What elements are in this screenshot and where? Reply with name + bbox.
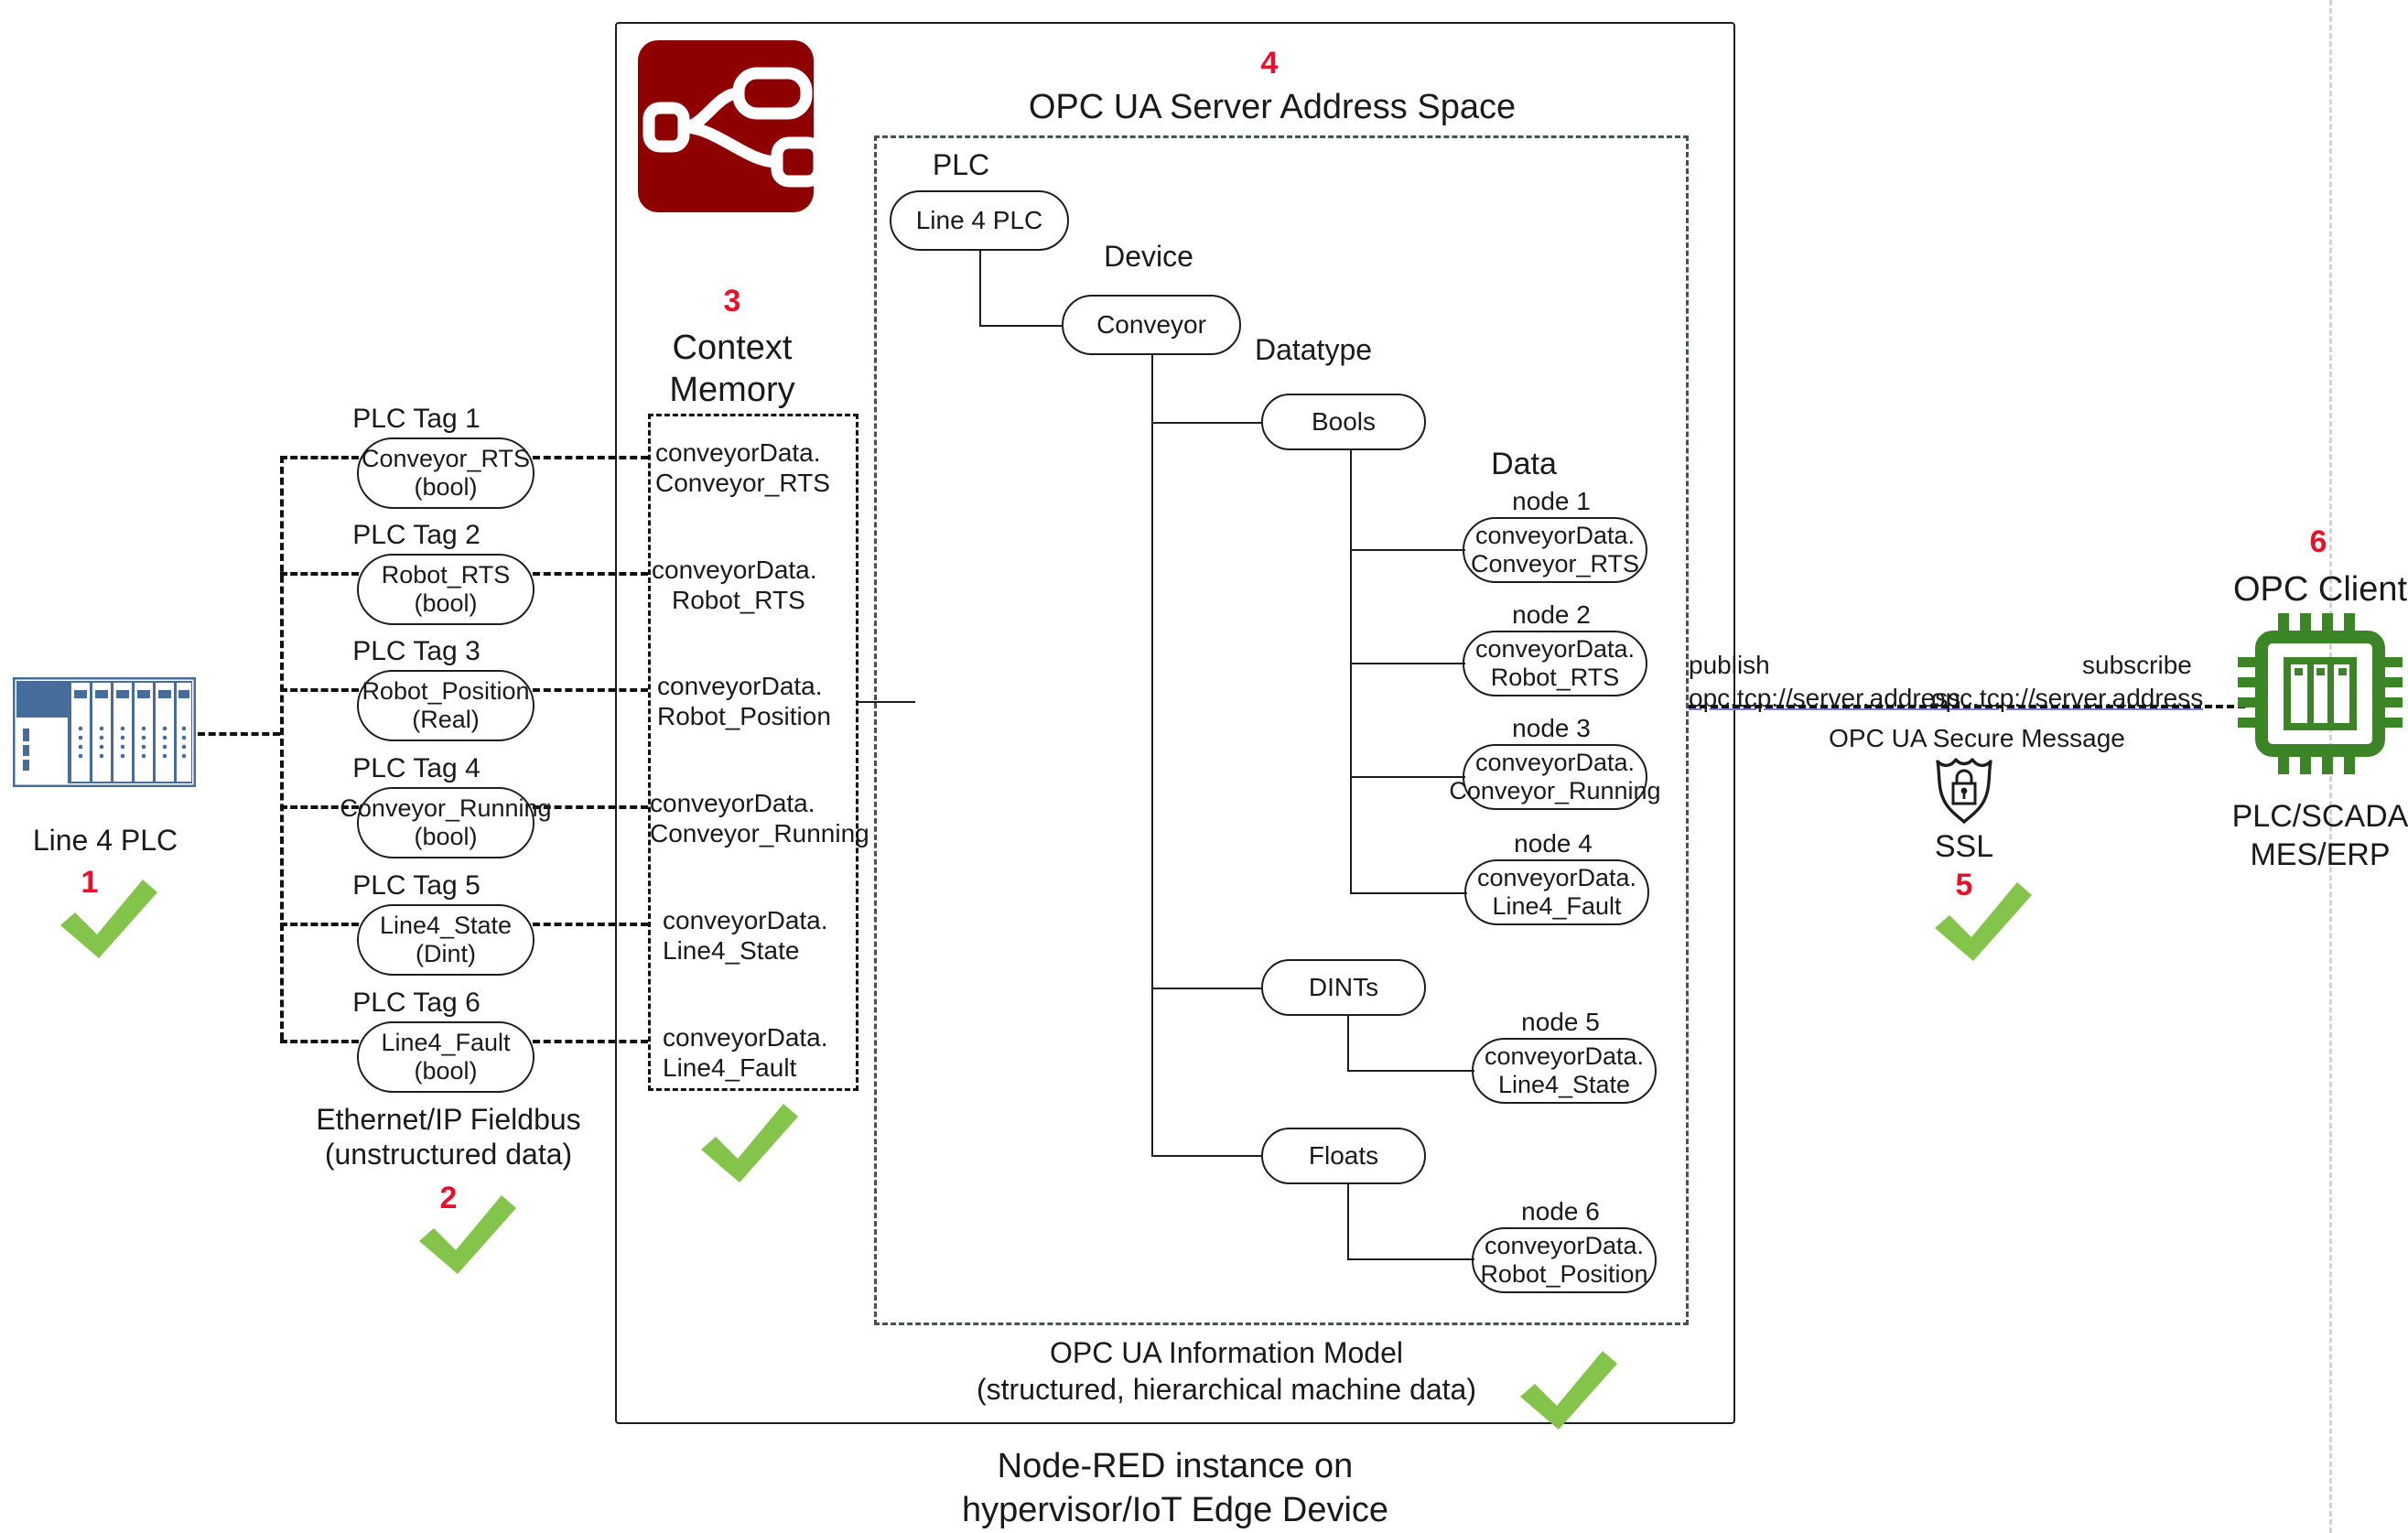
plc-tag-node-2-text: Robot_RTS (bool)	[382, 561, 511, 619]
node-red-footer-line2: hypervisor/IoT Edge Device	[901, 1490, 1450, 1531]
plc-device-label: Line 4 PLC	[0, 824, 211, 858]
fieldbus-label-line2: (unstructured data)	[275, 1138, 622, 1172]
information-model-line1: OPC UA Information Model	[924, 1336, 1528, 1371]
data-node-caption-3: node 3	[1474, 713, 1629, 743]
plc-tag-node-5-text: Line4_State (Dint)	[380, 912, 512, 969]
tree-wire-floats-d6	[1347, 1258, 1474, 1260]
context-entry-1: conveyorData.Conveyor_RTS	[646, 437, 862, 498]
plc-tag-node-3: Robot_Position (Real)	[357, 670, 535, 741]
diagram-canvas: Line 4 PLC 1 PLC Tag 1 Conveyor_RTS (boo…	[0, 0, 2408, 1533]
addr-data-node-3-text: conveyorData. Conveyor_Running	[1449, 749, 1660, 806]
tree-wire-device-v	[1151, 355, 1153, 1156]
addr-data-node-2: conveyorData. Robot_RTS	[1463, 631, 1647, 696]
tree-wire-dints-h	[1151, 988, 1263, 989]
addr-data-node-1-text: conveyorData. Conveyor_RTS	[1471, 522, 1639, 579]
context-entry-3: conveyorData.Robot_Position	[646, 671, 862, 731]
node-red-footer-line1: Node-RED instance on	[901, 1446, 1450, 1487]
plc-tag-caption-3: PLC Tag 3	[302, 635, 531, 667]
addr-node-datatype-bools: Bools	[1261, 394, 1426, 450]
tree-wire-bools-d1	[1350, 549, 1465, 551]
ssl-shield-lock-icon	[1931, 753, 1997, 829]
plc-tag-node-6: Line4_Fault (bool)	[357, 1021, 535, 1093]
tree-wire-bools-d2	[1350, 663, 1465, 664]
context-memory-title-line2: Memory	[622, 370, 842, 411]
level-label-device: Device	[1071, 240, 1226, 275]
tree-wire-dints-d5	[1347, 1070, 1474, 1072]
tree-wire-bools-h	[1151, 422, 1263, 424]
tree-wire-bools-v	[1350, 450, 1352, 894]
data-node-caption-4: node 4	[1475, 828, 1631, 858]
node-red-logo-icon	[638, 40, 814, 212]
context-memory-title-line1: Context	[622, 328, 842, 369]
check-icon-1	[55, 874, 161, 962]
fieldbus-branch-3	[280, 688, 359, 692]
context-entry-2: conveyorData.Robot_RTS	[646, 555, 862, 615]
addr-node-datatype-dints: DINTs	[1261, 959, 1426, 1016]
addr-data-node-2-text: conveyorData. Robot_RTS	[1475, 635, 1635, 693]
ctx-wire-2	[533, 572, 648, 576]
level-label-data: Data	[1437, 446, 1611, 482]
plc-tag-caption-2: PLC Tag 2	[302, 519, 531, 551]
subscribe-url: opc.tcp://server.address	[1931, 683, 2242, 713]
data-node-caption-1: node 1	[1474, 486, 1629, 516]
ssl-label: SSL	[1882, 828, 2046, 865]
addr-data-node-6: conveyorData. Robot_Position	[1472, 1227, 1657, 1293]
tree-wire-dints-v	[1347, 1016, 1349, 1071]
fieldbus-branch-2	[280, 572, 359, 576]
ctx-wire-1	[533, 456, 648, 459]
data-node-caption-6: node 6	[1483, 1196, 1638, 1226]
tree-wire-floats-v	[1347, 1184, 1349, 1259]
publish-label: publish	[1689, 650, 1872, 680]
plc-tag-caption-6: PLC Tag 6	[302, 987, 531, 1019]
addr-node-plc: Line 4 PLC	[890, 190, 1069, 251]
addr-data-node-5-text: conveyorData. Line4_State	[1485, 1042, 1644, 1100]
opc-client-footer-line2: MES/ERP	[2169, 837, 2408, 873]
plc-tag-node-3-text: Robot_Position (Real)	[362, 677, 529, 735]
fieldbus-branch-6	[280, 1040, 359, 1043]
ctx-wire-6	[533, 1040, 648, 1043]
plc-tag-caption-1: PLC Tag 1	[302, 403, 531, 435]
tree-wire-bools-d4	[1350, 892, 1467, 894]
fieldbus-branch-5	[280, 923, 359, 926]
fieldbus-label-line1: Ethernet/IP Fieldbus	[275, 1103, 622, 1138]
check-icon-3	[696, 1098, 802, 1186]
plc-tag-node-1: Conveyor_RTS (bool)	[357, 437, 535, 509]
addr-node-device: Conveyor	[1062, 295, 1241, 355]
addr-data-node-5: conveyorData. Line4_State	[1472, 1038, 1657, 1104]
tree-wire-plc-h	[979, 325, 1064, 327]
plc-tag-caption-4: PLC Tag 4	[302, 752, 531, 784]
level-label-plc: PLC	[897, 148, 1025, 183]
step-number-4: 4	[1251, 46, 1288, 81]
addr-data-node-4: conveyorData. Line4_Fault	[1464, 859, 1649, 925]
step-number-3: 3	[714, 284, 750, 319]
context-memory-box	[648, 414, 858, 1091]
ctx-wire-3	[533, 688, 648, 692]
tree-wire-floats-h	[1151, 1155, 1263, 1157]
fieldbus-wire-plc	[198, 732, 280, 736]
context-entry-5: conveyorData.Line4_State	[648, 905, 864, 966]
plc-tag-node-6-text: Line4_Fault (bool)	[381, 1029, 510, 1086]
plc-rack-icon	[13, 677, 196, 787]
plc-tag-node-2: Robot_RTS (bool)	[357, 554, 535, 625]
opc-client-title: OPC Client	[2169, 569, 2408, 610]
step-number-6: 6	[2300, 524, 2337, 560]
check-icon-5	[1929, 877, 2035, 965]
addr-node-datatype-floats: Floats	[1261, 1128, 1426, 1184]
addr-data-node-1: conveyorData. Conveyor_RTS	[1463, 517, 1647, 583]
addr-data-node-6-text: conveyorData. Robot_Position	[1480, 1232, 1647, 1290]
data-node-caption-5: node 5	[1483, 1007, 1638, 1037]
opc-client-footer-line1: PLC/SCADA	[2169, 798, 2408, 835]
plc-tag-node-4-text: Conveyor_Running (bool)	[340, 794, 551, 852]
plc-tag-node-5: Line4_State (Dint)	[357, 904, 535, 976]
addr-data-node-3: conveyorData. Conveyor_Running	[1463, 744, 1647, 810]
context-entry-6: conveyorData.Line4_Fault	[648, 1022, 864, 1083]
plc-tag-node-1-text: Conveyor_RTS (bool)	[362, 445, 530, 502]
secure-message-label: OPC UA Secure Message	[1821, 723, 2133, 753]
tree-wire-bools-d3	[1350, 776, 1465, 778]
tree-wire-plc-v	[979, 251, 981, 326]
level-label-datatype: Datatype	[1222, 333, 1405, 368]
information-model-line2: (structured, hierarchical machine data)	[924, 1373, 1528, 1408]
plc-tag-caption-5: PLC Tag 5	[302, 869, 531, 901]
cpu-chip-icon	[2236, 611, 2404, 781]
check-icon-2	[414, 1190, 520, 1278]
addr-data-node-4-text: conveyorData. Line4_Fault	[1477, 864, 1636, 922]
check-icon-4	[1515, 1345, 1621, 1433]
data-node-caption-2: node 2	[1474, 599, 1629, 630]
context-entry-4: conveyorData.Conveyor_Running	[644, 788, 864, 848]
fieldbus-trunk	[280, 456, 284, 1040]
fieldbus-branch-1	[280, 456, 359, 459]
plc-tag-node-4: Conveyor_Running (bool)	[357, 787, 535, 858]
address-space-title: OPC UA Server Address Space	[915, 87, 1629, 128]
ctx-wire-5	[533, 923, 648, 926]
